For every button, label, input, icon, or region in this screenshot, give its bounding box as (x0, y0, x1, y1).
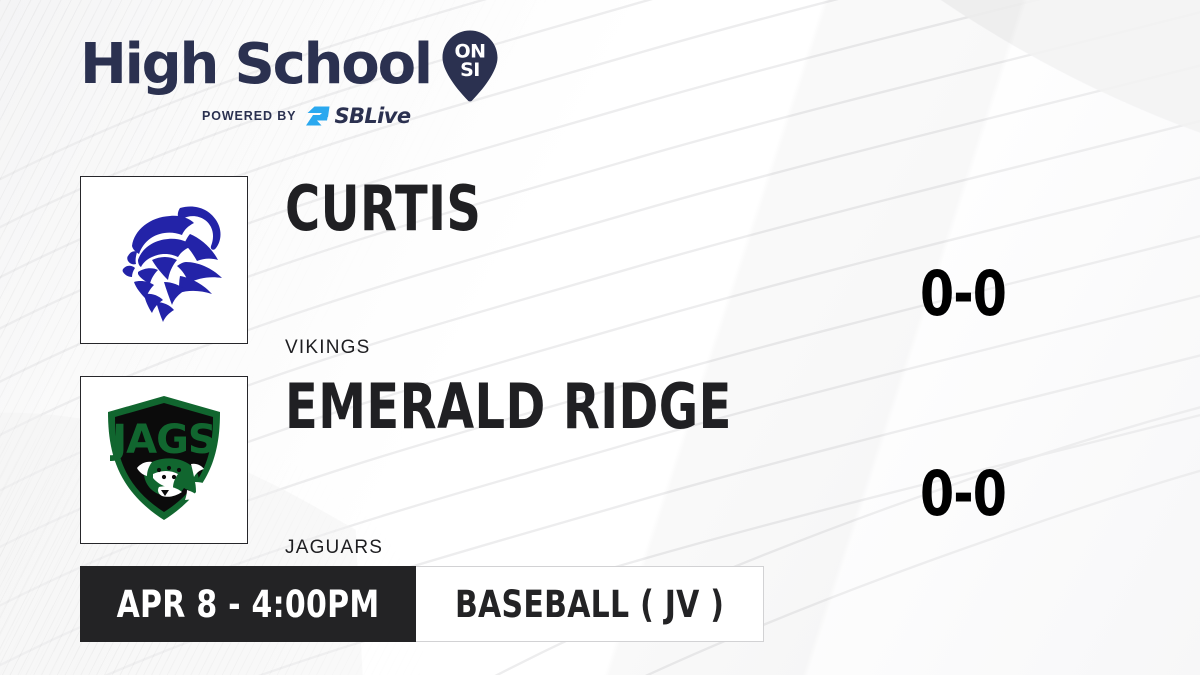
powered-by-label: POWERED BY (202, 109, 296, 123)
brand-header: High School ON SI POWERED BY SBLive (80, 34, 510, 127)
location-pin-icon: ON SI (441, 29, 499, 103)
sblive-s-glyph-icon (305, 105, 331, 127)
game-datetime-block: APR 8 - 4:00PM (80, 566, 416, 642)
team-name: EMERALD RIDGE (285, 376, 732, 438)
game-info-banner: APR 8 - 4:00PM BASEBALL ( JV ) (80, 566, 764, 642)
wordmark-row: High School ON SI (80, 34, 510, 96)
team-logo-tile (80, 176, 248, 344)
team-name: CURTIS (285, 178, 481, 240)
sblive-wordmark: SBLive (334, 106, 410, 127)
team-mascot-label: VIKINGS (285, 337, 370, 359)
game-sport-text: BASEBALL ( JV ) (455, 586, 724, 623)
on-si-pin-logo: ON SI (441, 29, 499, 103)
team-record-away: 0-0 (920, 463, 1006, 525)
svg-text:SI: SI (460, 59, 480, 81)
team-mascot-label: JAGUARS (285, 537, 383, 559)
sblive-logo: SBLive (305, 105, 410, 127)
team-record-home: 0-0 (920, 263, 1006, 325)
team-logo-tile: JAGS (80, 376, 248, 544)
game-datetime-text: APR 8 - 4:00PM (117, 586, 380, 623)
game-sport-block: BASEBALL ( JV ) (416, 566, 764, 642)
powered-by-row: POWERED BY SBLive (202, 105, 510, 127)
viking-head-logo-icon (94, 190, 234, 330)
svg-text:JAGS: JAGS (109, 417, 215, 463)
matchup-card: High School ON SI POWERED BY SBLive (0, 0, 1200, 675)
jaguar-shield-logo-icon: JAGS (99, 390, 229, 530)
high-school-wordmark: High School (80, 37, 431, 93)
